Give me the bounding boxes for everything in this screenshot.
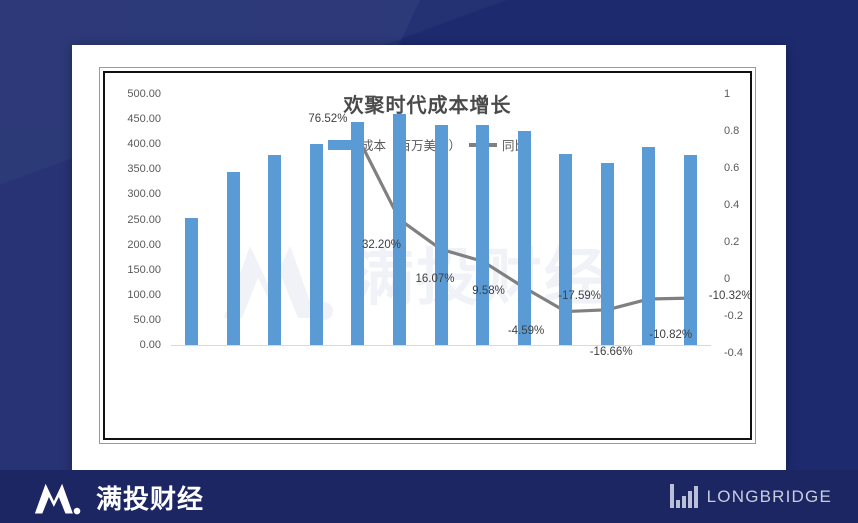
bar[interactable] bbox=[393, 114, 406, 345]
y-axis-left-tick: 450.00 bbox=[127, 113, 161, 125]
bar[interactable] bbox=[518, 131, 531, 345]
data-point-label: 32.20% bbox=[362, 239, 401, 251]
footer-bar: 满投财经 LONGBRIDGE bbox=[0, 470, 858, 523]
data-point-label: 9.58% bbox=[472, 285, 505, 297]
bar[interactable] bbox=[476, 125, 489, 345]
y-axis-right-tick: -0.4 bbox=[724, 347, 743, 359]
brand-logo: 满投财经 bbox=[30, 478, 204, 516]
bar[interactable] bbox=[642, 147, 655, 345]
y-axis-left-tick: 300.00 bbox=[127, 188, 161, 200]
plot-area: 76.52%32.20%16.07%9.58%-4.59%-17.59%-16.… bbox=[171, 73, 711, 440]
data-point-label: 16.07% bbox=[415, 273, 454, 285]
brand-name: 满投财经 bbox=[96, 479, 204, 516]
y-axis-right-tick: 1 bbox=[724, 88, 730, 100]
bar[interactable] bbox=[601, 163, 614, 345]
y-axis-left-tick: 200.00 bbox=[127, 239, 161, 251]
y-axis-right-tick: 0 bbox=[724, 273, 730, 285]
y-axis-left-tick: 400.00 bbox=[127, 138, 161, 150]
data-point-label: 76.52% bbox=[308, 113, 347, 125]
partner-name: LONGBRIDGE bbox=[707, 486, 832, 508]
bar[interactable] bbox=[268, 155, 281, 345]
y-axis-left-tick: 250.00 bbox=[127, 214, 161, 226]
data-point-label: -10.32% bbox=[709, 290, 752, 302]
bar[interactable] bbox=[185, 218, 198, 345]
longbridge-bars-icon bbox=[670, 484, 698, 508]
brand-logo-icon bbox=[30, 478, 86, 516]
bar[interactable] bbox=[684, 155, 697, 345]
bar[interactable] bbox=[227, 172, 240, 345]
y-axis-left-tick: 50.00 bbox=[133, 314, 161, 326]
data-point-label: -16.66% bbox=[590, 346, 633, 358]
data-point-label: -10.82% bbox=[649, 329, 692, 341]
y-axis-right-tick: 0.6 bbox=[724, 162, 739, 174]
y-axis-left-tick: 150.00 bbox=[127, 264, 161, 276]
bar[interactable] bbox=[351, 122, 364, 345]
y-axis-right-tick: 0.4 bbox=[724, 199, 739, 211]
y-axis-left-tick: 350.00 bbox=[127, 163, 161, 175]
y-axis-left-tick: 100.00 bbox=[127, 289, 161, 301]
data-point-label: -17.59% bbox=[558, 290, 601, 302]
y-axis-right-tick: 0.8 bbox=[724, 125, 739, 137]
chart-inner-border: 欢聚时代成本增长 成本（百万美元） 同比 满投财经 bbox=[103, 71, 752, 440]
bar[interactable] bbox=[310, 144, 323, 345]
y-axis-right-tick: 0.2 bbox=[724, 236, 739, 248]
chart-frame: 欢聚时代成本增长 成本（百万美元） 同比 满投财经 bbox=[99, 67, 756, 444]
plot: 500.00450.00400.00350.00300.00250.00200.… bbox=[105, 73, 752, 440]
data-point-label: -4.59% bbox=[508, 325, 544, 337]
bar[interactable] bbox=[435, 125, 448, 345]
y-axis-left-tick: 500.00 bbox=[127, 88, 161, 100]
slide-card: 欢聚时代成本增长 成本（百万美元） 同比 满投财经 bbox=[72, 45, 786, 470]
bar[interactable] bbox=[559, 154, 572, 345]
y-axis-right-tick: -0.2 bbox=[724, 310, 743, 322]
partner-logo: LONGBRIDGE bbox=[670, 484, 832, 508]
y-axis-left-tick: 0.00 bbox=[140, 339, 161, 351]
